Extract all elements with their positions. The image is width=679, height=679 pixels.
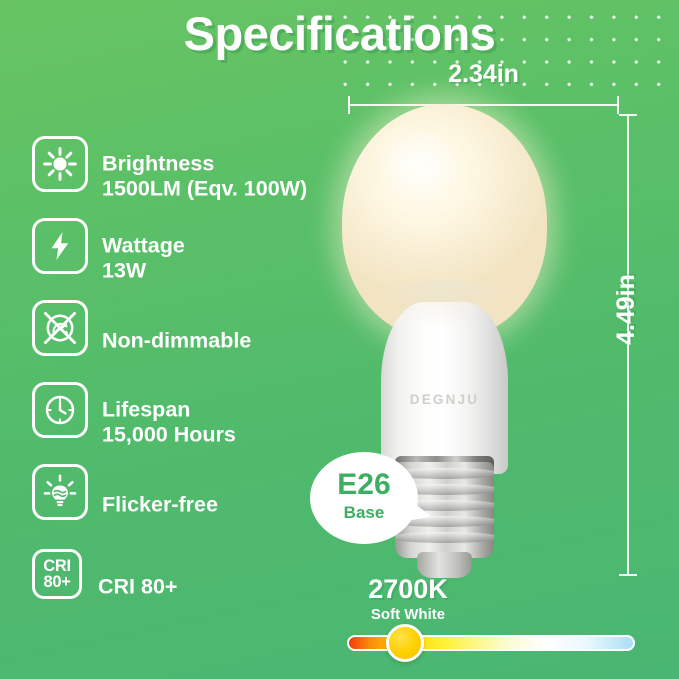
height-dimension-label: 4.49in [612, 274, 641, 345]
spec-row-flicker-free: Flicker-free [32, 464, 362, 546]
cri-icon: CRI 80+ [32, 549, 82, 599]
kelvin-name: Soft White [318, 606, 498, 623]
spec-text-flicker-free: Flicker-free [102, 492, 218, 517]
specifications-infographic: Specifications 2.34in 4.49in DEGNJU E26 … [0, 0, 679, 679]
spec-text-wattage: Wattage 13W [102, 234, 185, 285]
cri-icon-line1: CRI [43, 558, 71, 575]
spec-row-non-dimmable: Non-dimmable [32, 300, 362, 382]
spec-label: Non-dimmable [102, 328, 251, 353]
bulb-housing-shadow [365, 280, 524, 350]
spec-label: CRI 80+ [98, 574, 177, 599]
cri-icon-line2: 80+ [43, 574, 70, 591]
flicker-free-icon [32, 464, 88, 520]
brand-label: DEGNJU [381, 392, 508, 407]
lightning-icon [32, 218, 88, 274]
spec-label: Lifespan [102, 398, 236, 423]
color-temperature-info: 2700K Soft White [318, 574, 498, 623]
spec-label: Brightness [102, 152, 307, 177]
spec-text-non-dimmable: Non-dimmable [102, 328, 251, 353]
sun-icon [32, 136, 88, 192]
clock-icon [32, 382, 88, 438]
slider-knob[interactable] [386, 624, 424, 662]
spec-value: 1500LM (Eqv. 100W) [102, 177, 307, 202]
spec-row-brightness: Brightness 1500LM (Eqv. 100W) [32, 136, 362, 218]
spec-text-brightness: Brightness 1500LM (Eqv. 100W) [102, 152, 307, 203]
page-title: Specifications [0, 6, 679, 61]
height-dimension-line [619, 114, 637, 576]
spec-value: 13W [102, 259, 185, 284]
width-dimension-label: 2.34in [348, 60, 619, 89]
spec-row-cri: CRI 80+ CRI 80+ [32, 546, 362, 628]
spec-row-wattage: Wattage 13W [32, 218, 362, 300]
color-temperature-slider[interactable] [347, 635, 635, 651]
non-dimmable-icon [32, 300, 88, 356]
spec-list: Brightness 1500LM (Eqv. 100W) Wattage 13… [32, 136, 362, 628]
cri-icon-text: CRI 80+ [35, 552, 79, 596]
spec-row-lifespan: Lifespan 15,000 Hours [32, 382, 362, 464]
kelvin-value: 2700K [318, 574, 498, 605]
spec-value: 15,000 Hours [102, 423, 236, 448]
spec-label: Flicker-free [102, 492, 218, 517]
spec-text-lifespan: Lifespan 15,000 Hours [102, 398, 236, 449]
spec-text-cri: CRI 80+ [98, 574, 177, 599]
spec-label: Wattage [102, 234, 185, 259]
